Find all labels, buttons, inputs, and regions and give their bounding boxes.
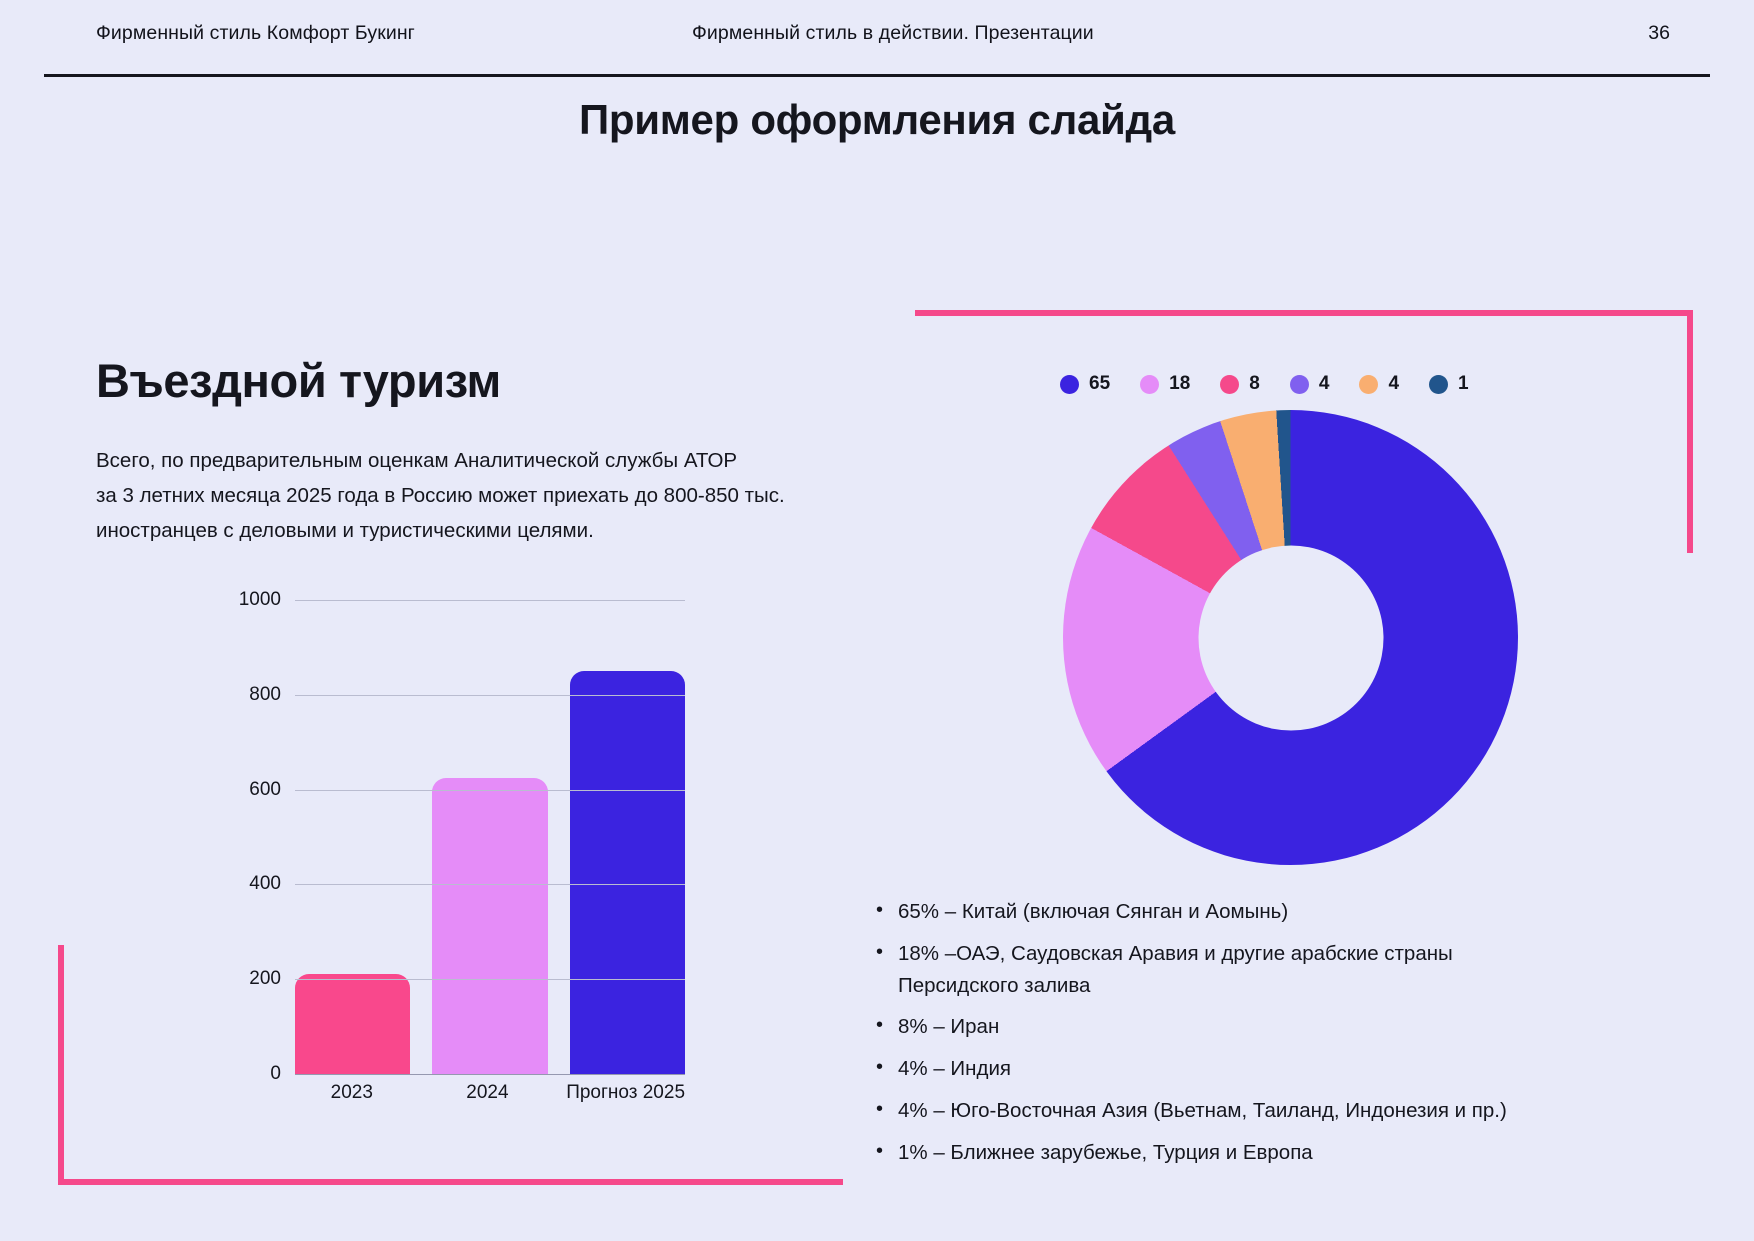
legend-item: 4 <box>1359 373 1399 395</box>
lede-line-3: иностранцев с деловыми и туристическими … <box>96 513 976 548</box>
x-axis-tick-label: 2024 <box>431 1082 545 1112</box>
y-axis-tick-label: 400 <box>249 873 281 895</box>
gridline <box>295 884 685 885</box>
bar-column <box>570 600 685 1074</box>
bar-прогноз-2025 <box>570 671 685 1074</box>
page-title: Пример оформления слайда <box>0 96 1754 144</box>
decor-frame-bottom-left-vertical <box>58 945 64 1185</box>
list-item-text: 4% – Индия <box>898 1057 1011 1080</box>
page-number: 36 <box>1648 22 1670 45</box>
legend-item: 65 <box>1060 373 1110 395</box>
y-axis-tick-label: 600 <box>249 779 281 801</box>
list-item: 65% – Китай (включая Сянган и Аомынь) <box>872 896 1692 928</box>
legend-value: 8 <box>1249 373 1260 395</box>
list-item-text: 18% –ОАЭ, Саудовская Аравия и другие ара… <box>898 942 1453 965</box>
legend-swatch-icon <box>1140 375 1159 394</box>
y-axis-tick-label: 800 <box>249 684 281 706</box>
gridline <box>295 979 685 980</box>
legend-value: 65 <box>1089 373 1110 395</box>
axis-baseline <box>295 1074 685 1075</box>
y-axis-tick-label: 0 <box>270 1063 281 1085</box>
legend-swatch-icon <box>1359 375 1378 394</box>
legend-item: 4 <box>1290 373 1330 395</box>
legend-item: 8 <box>1220 373 1260 395</box>
legend-value: 4 <box>1388 373 1399 395</box>
list-item-text: 65% – Китай (включая Сянган и Аомынь) <box>898 900 1288 923</box>
legend-value: 18 <box>1169 373 1190 395</box>
legend-item: 18 <box>1140 373 1190 395</box>
x-axis-tick-label: 2023 <box>295 1082 409 1112</box>
y-axis-tick-label: 1000 <box>239 589 281 611</box>
lede-paragraph: Всего, по предварительным оценкам Аналит… <box>96 443 976 549</box>
list-item: 4% – Юго-Восточная Азия (Вьетнам, Таилан… <box>872 1095 1692 1127</box>
legend-swatch-icon <box>1060 375 1079 394</box>
header-divider <box>44 74 1710 77</box>
donut-chart <box>1063 410 1518 865</box>
lede-line-2: за 3 летних месяца 2025 года в Россию мо… <box>96 478 976 513</box>
left-content-column: Въездной туризм Всего, по предварительны… <box>96 355 976 548</box>
bar-chart-plot-area: 02004006008001000 <box>295 600 685 1074</box>
breakdown-list: 65% – Китай (включая Сянган и Аомынь)18%… <box>872 896 1692 1178</box>
bar-column <box>295 600 410 1074</box>
bar-chart: 02004006008001000 20232024Прогноз 2025 <box>225 600 685 1120</box>
donut-chart-legend: 65188441 <box>1060 373 1469 395</box>
bar-chart-x-axis-labels: 20232024Прогноз 2025 <box>295 1082 685 1112</box>
header-brand-label: Фирменный стиль Комфорт Букинг <box>96 22 415 45</box>
list-item: 4% – Индия <box>872 1053 1692 1085</box>
donut-chart-hole <box>1198 545 1383 730</box>
header-section-label: Фирменный стиль в действии. Презентации <box>692 22 1094 45</box>
slide-header: Фирменный стиль Комфорт Букинг Фирменный… <box>44 22 1710 74</box>
bar-2023 <box>295 974 410 1074</box>
legend-swatch-icon <box>1429 375 1448 394</box>
list-item-text-continued: Персидского залива <box>898 970 1692 1002</box>
list-item: 18% –ОАЭ, Саудовская Аравия и другие ара… <box>872 938 1692 1002</box>
legend-swatch-icon <box>1220 375 1239 394</box>
legend-item: 1 <box>1429 373 1469 395</box>
x-axis-tick-label: Прогноз 2025 <box>566 1082 685 1112</box>
list-item-text: 1% – Ближнее зарубежье, Турция и Европа <box>898 1141 1313 1164</box>
legend-swatch-icon <box>1290 375 1309 394</box>
lede-line-1: Всего, по предварительным оценкам Аналит… <box>96 443 976 478</box>
list-item: 1% – Ближнее зарубежье, Турция и Европа <box>872 1137 1692 1169</box>
list-item-text: 4% – Юго-Восточная Азия (Вьетнам, Таилан… <box>898 1099 1507 1122</box>
decor-frame-top-right-vertical <box>1687 310 1693 553</box>
legend-value: 4 <box>1319 373 1330 395</box>
list-item: 8% – Иран <box>872 1011 1692 1043</box>
decor-frame-bottom-left-horizontal <box>58 1179 843 1185</box>
gridline <box>295 790 685 791</box>
legend-value: 1 <box>1458 373 1469 395</box>
decor-frame-top-right-horizontal <box>915 310 1693 316</box>
y-axis-tick-label: 200 <box>249 968 281 990</box>
gridline <box>295 600 685 601</box>
section-heading: Въездной туризм <box>96 355 976 407</box>
bar-column <box>432 600 547 1074</box>
bar-2024 <box>432 778 547 1074</box>
list-item-text: 8% – Иран <box>898 1015 999 1038</box>
gridline <box>295 695 685 696</box>
bar-chart-bars <box>295 600 685 1074</box>
